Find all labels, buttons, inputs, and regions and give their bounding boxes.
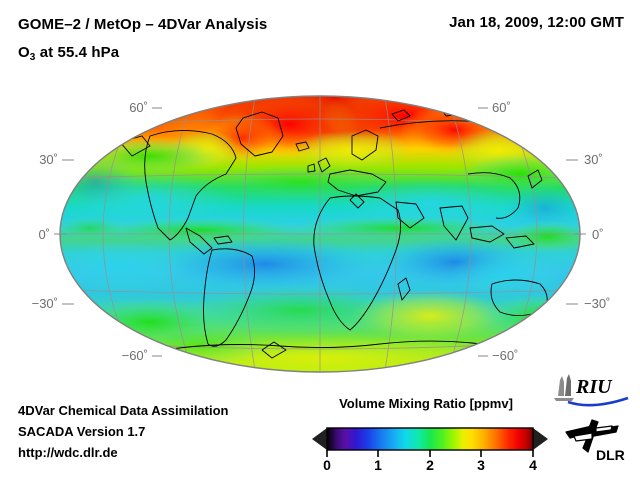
dlr-logo-icon: DLR <box>562 416 626 464</box>
subtitle-level: at 55.4 hPa <box>35 44 119 61</box>
timestamp: Jan 18, 2009, 12:00 GMT <box>449 14 624 31</box>
riu-logo-icon: RIU <box>552 372 632 408</box>
lat-label-60n-left: 60˚ <box>129 100 148 115</box>
colorbar-scale: 0 1 2 3 4 <box>310 416 550 472</box>
lat-label-60s-left: −60˚ <box>122 348 148 363</box>
page-title: GOME–2 / MetOp – 4DVar Analysis <box>18 14 267 35</box>
lat-label-60n-right: 60˚ <box>492 100 511 115</box>
lat-label-30s-left: −30˚ <box>32 296 58 311</box>
footer-url[interactable]: http://wdc.dlr.de <box>18 442 229 463</box>
subtitle-species: O <box>18 44 30 61</box>
colorbar-title: Volume Mixing Ratio [ppmv] <box>310 396 542 411</box>
lat-label-0-left: 0˚ <box>38 227 50 242</box>
colorbar: Volume Mixing Ratio [ppmv] <box>310 396 550 472</box>
world-map: 60˚ 30˚ 0˚ −30˚ −60˚ 60˚ 30˚ 0˚ −30˚ −60… <box>0 78 640 390</box>
lat-label-30n-right: 30˚ <box>584 152 603 167</box>
footer-credits: 4DVar Chemical Data Assimilation SACADA … <box>18 400 229 463</box>
ozone-field <box>50 78 595 384</box>
colorbar-ticks <box>327 450 533 457</box>
subtitle-subscript: 3 <box>30 52 36 63</box>
lat-label-60s-right: −60˚ <box>492 348 518 363</box>
riu-wordmark: RIU <box>575 376 613 398</box>
page-subtitle: O3 at 55.4 hPa <box>18 44 119 61</box>
lat-label-30n-left: 30˚ <box>39 152 58 167</box>
colorbar-extend-high-icon <box>533 428 548 450</box>
lat-label-30s-right: −30˚ <box>584 296 610 311</box>
dlr-wordmark: DLR <box>596 447 625 463</box>
colorbar-gradient <box>327 428 533 450</box>
lat-label-0-right: 0˚ <box>592 227 604 242</box>
colorbar-extend-low-icon <box>312 428 327 450</box>
colorbar-tick-label-0: 0 <box>323 457 331 472</box>
colorbar-tick-label-2: 2 <box>426 457 434 472</box>
colorbar-tick-label-3: 3 <box>477 457 485 472</box>
ozone-map-figure: GOME–2 / MetOp – 4DVar Analysis O3 at 55… <box>0 0 640 480</box>
footer-line-1: 4DVar Chemical Data Assimilation <box>18 400 229 421</box>
footer-line-2: SACADA Version 1.7 <box>18 421 229 442</box>
colorbar-tick-label-1: 1 <box>374 457 382 472</box>
colorbar-tick-label-4: 4 <box>529 457 537 472</box>
map-canvas: 60˚ 30˚ 0˚ −30˚ −60˚ 60˚ 30˚ 0˚ −30˚ −60… <box>0 78 640 390</box>
